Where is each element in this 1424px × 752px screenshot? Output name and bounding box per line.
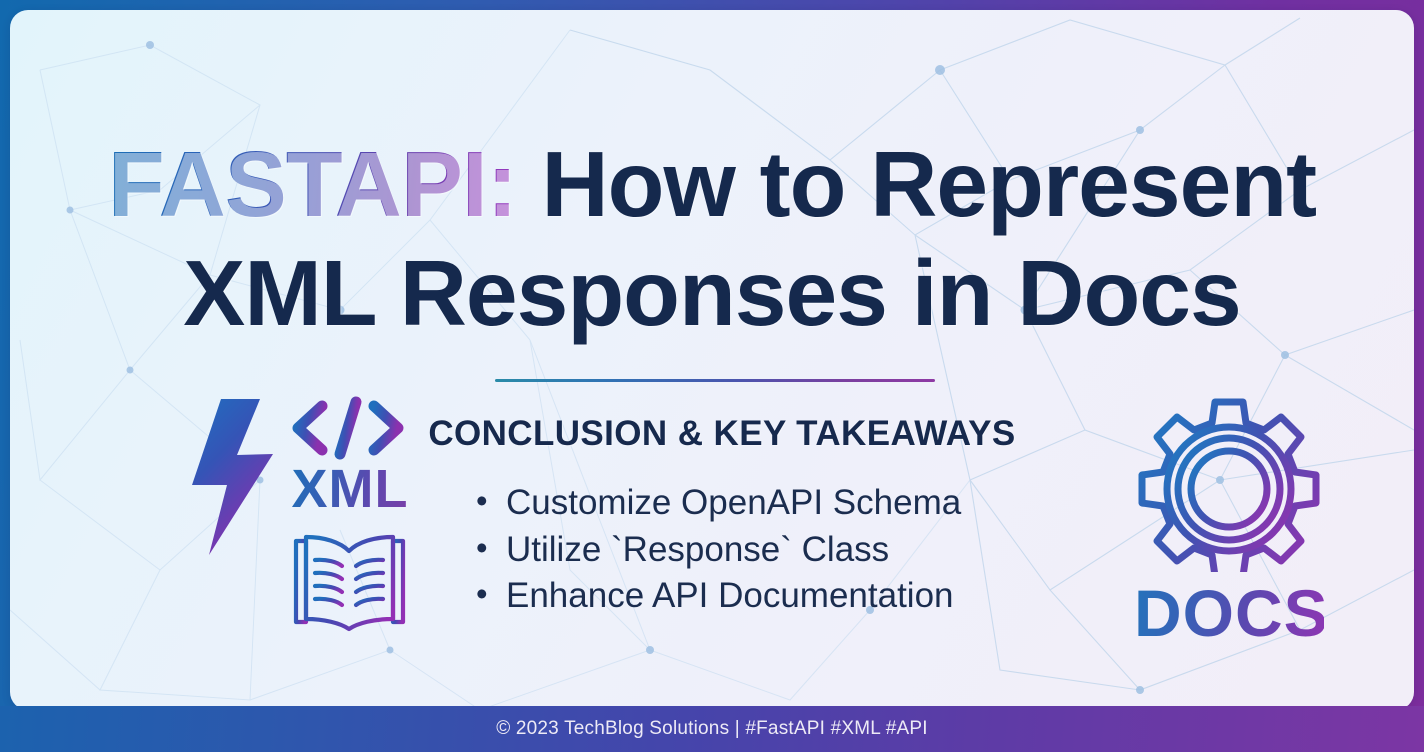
list-item: Utilize `Response` Class [476,527,1022,574]
code-brackets-icon [288,394,408,462]
open-book-icon [282,527,417,633]
list-item: Enhance API Documentation [476,573,1022,620]
list-item: Customize OpenAPI Schema [476,480,1022,527]
footer-text: © 2023 TechBlog Solutions | #FastAPI #XM… [496,718,928,740]
docs-label: DOCS [1134,580,1324,646]
lightning-bolt-icon [188,397,278,557]
brand-name: FASTAPI: [108,132,517,236]
section-heading: CONCLUSION & KEY TAKEAWAYS [422,414,1022,454]
left-icon-cluster: XML [182,394,422,644]
xml-label: XML [290,462,410,516]
gear-icon [1136,396,1322,572]
section-divider [495,379,935,382]
slide-frame: FASTAPI: How to Represent XML Responses … [0,0,1424,752]
headline-line-2: XML Responses in Docs [10,247,1414,340]
takeaways-list: Customize OpenAPI Schema Utilize `Respon… [422,480,1022,620]
footer-bar: © 2023 TechBlog Solutions | #FastAPI #XM… [0,706,1424,752]
right-icon-cluster: DOCS [1134,396,1334,646]
takeaways-block: CONCLUSION & KEY TAKEAWAYS Customize Ope… [422,414,1022,620]
page-title: FASTAPI: How to Represent XML Responses … [10,138,1414,340]
headline-line-1-rest: How to Represent [517,132,1316,236]
headline-line-1: FASTAPI: How to Represent [10,138,1414,231]
slide-card: FASTAPI: How to Represent XML Responses … [10,10,1414,710]
